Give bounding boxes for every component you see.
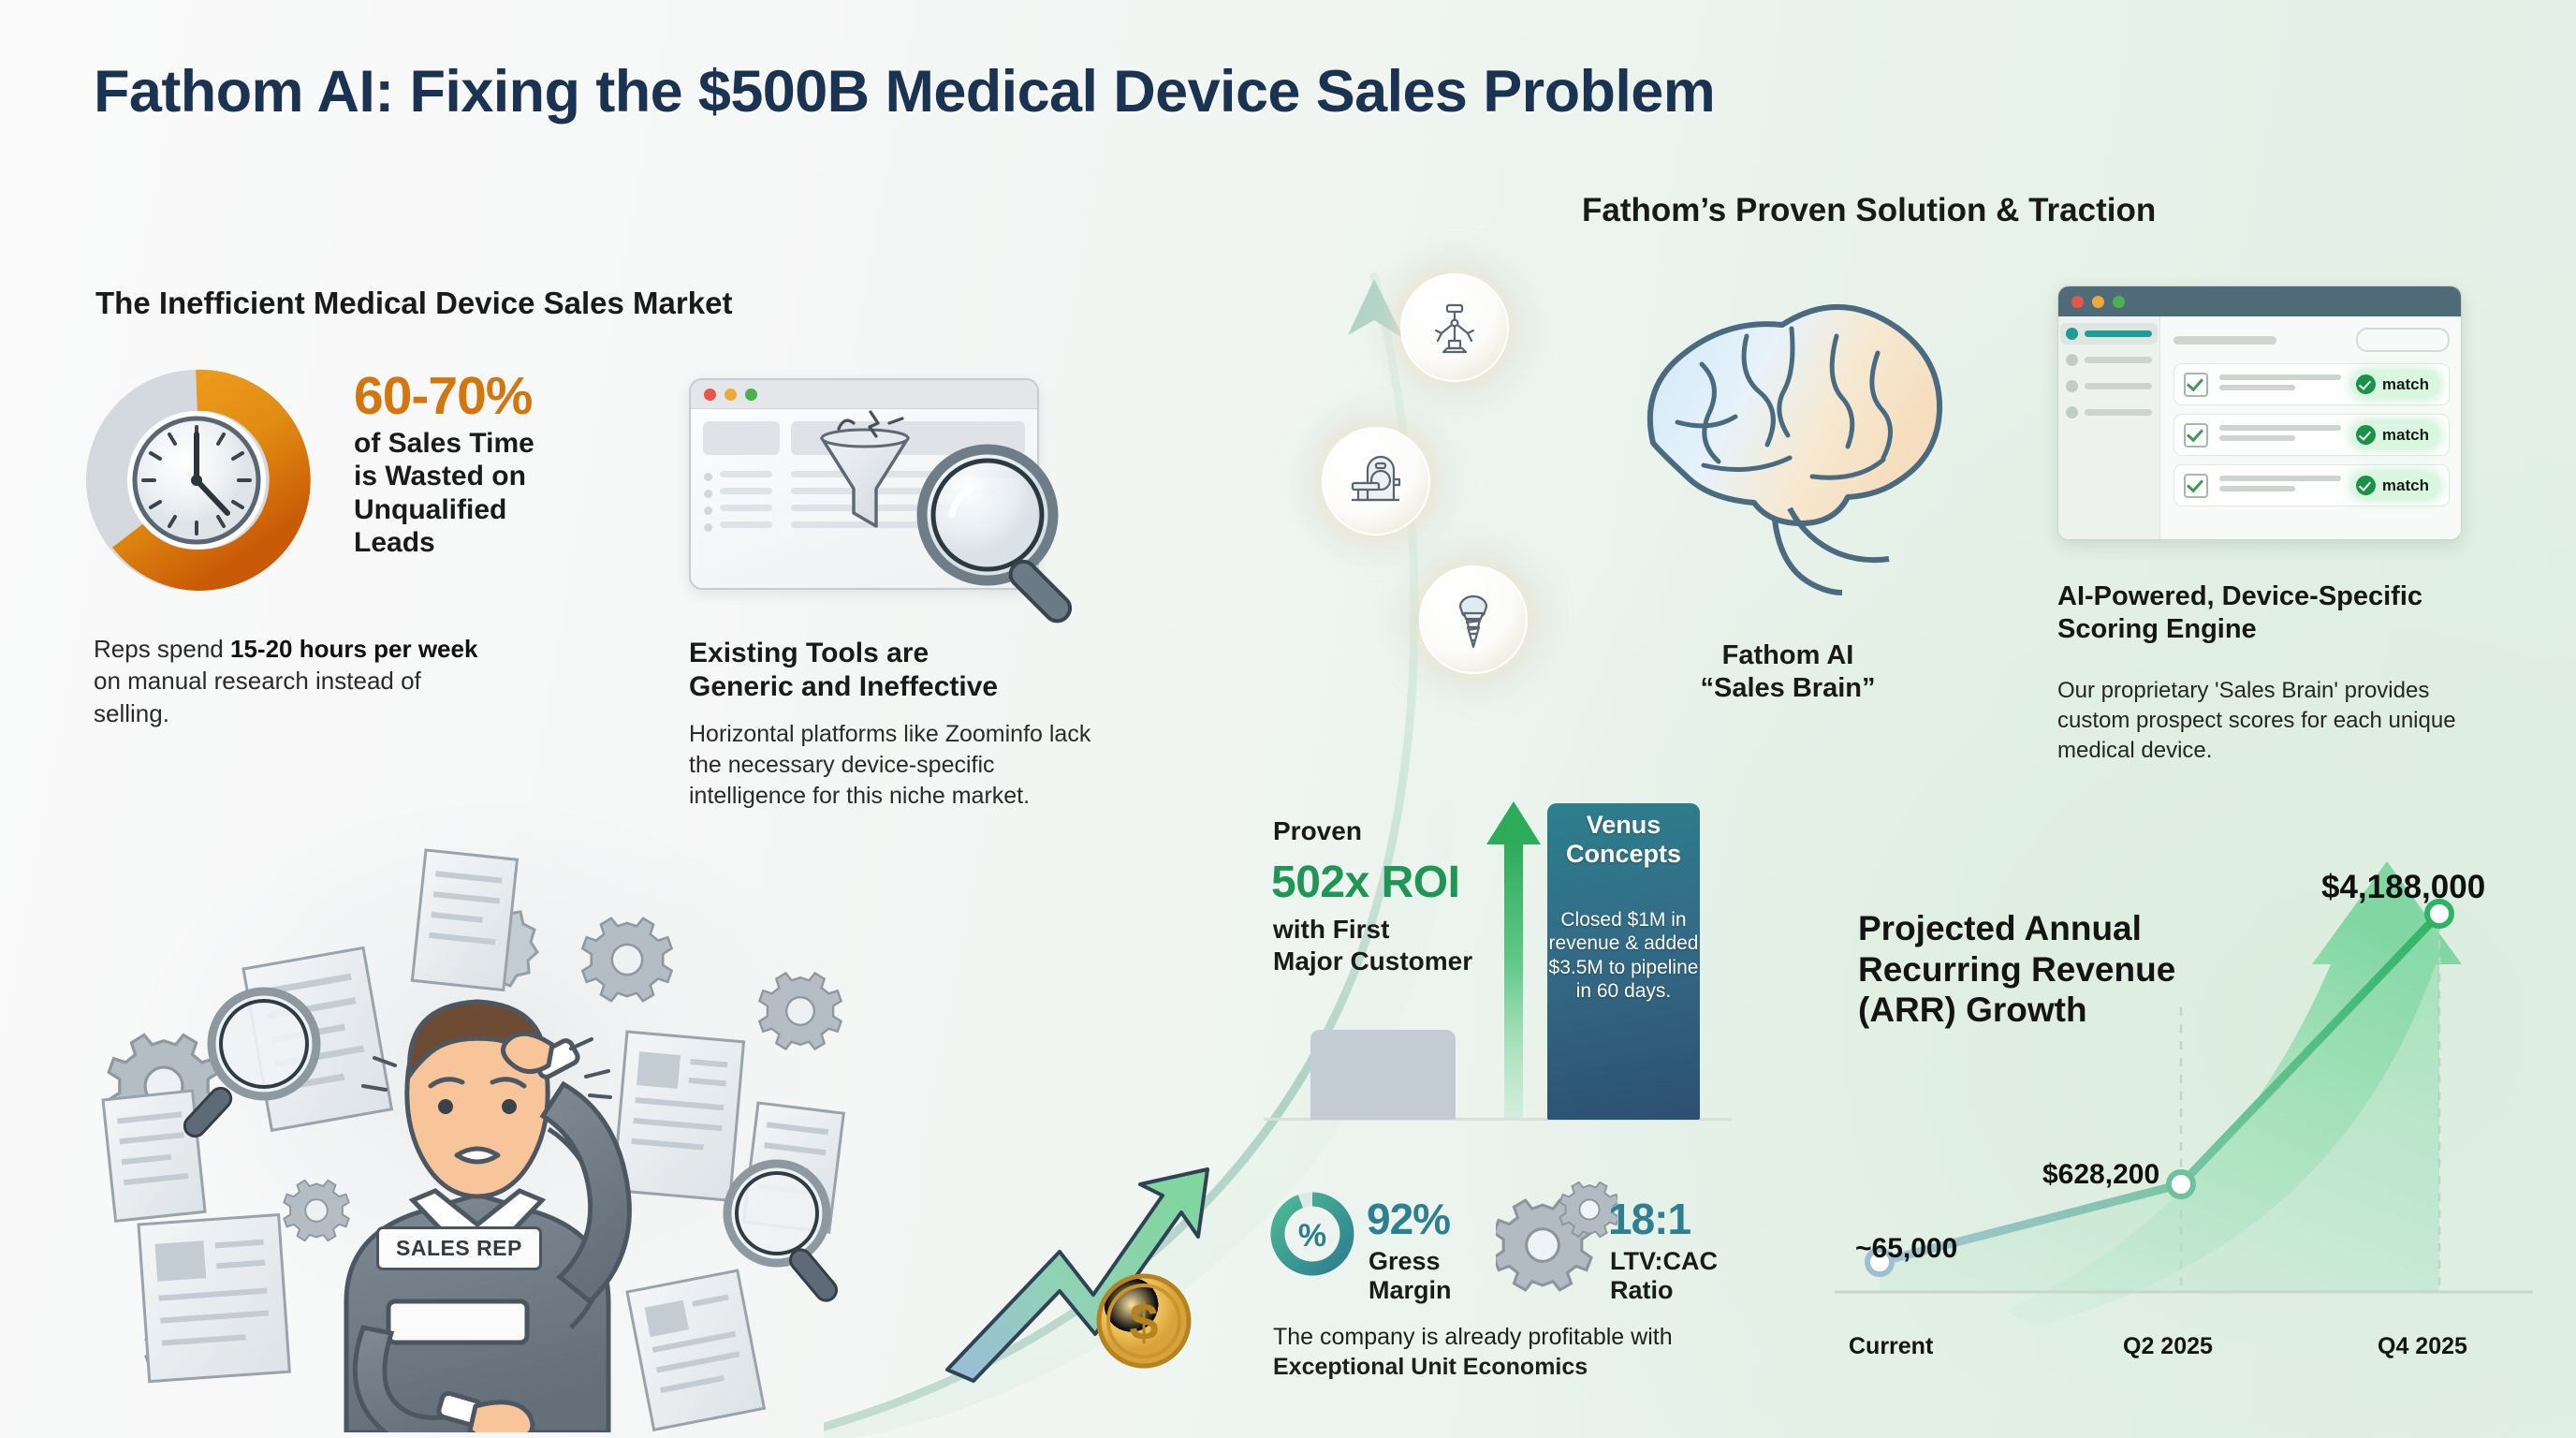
content-line bbox=[720, 521, 772, 528]
sidebar-label-placeholder bbox=[2085, 409, 2152, 416]
growth-arrow-coin-graphic: $ bbox=[927, 1147, 1226, 1386]
venus-concepts-detail: Closed $1M in revenue & added $3.5M to p… bbox=[1547, 908, 1700, 1004]
unit-economics-note: The company is already profitable with E… bbox=[1273, 1322, 1713, 1382]
page-title: Fathom AI: Fixing the $500B Medical Devi… bbox=[94, 58, 1715, 125]
sidebar-dot-icon bbox=[2066, 380, 2078, 392]
existing-tools-heading-line2: Generic and Ineffective bbox=[689, 671, 998, 702]
infographic-canvas: Fathom AI: Fixing the $500B Medical Devi… bbox=[0, 0, 2576, 1438]
arr-chart-title: Projected Annual Recurring Revenue (ARR)… bbox=[1858, 908, 2298, 1031]
status-badge: match bbox=[2352, 422, 2439, 448]
arr-title-line1: Projected Annual bbox=[1858, 909, 2142, 947]
existing-tools-heading: Existing Tools are Generic and Ineffecti… bbox=[689, 637, 1091, 704]
reps-hours-note: Reps spend 15-20 hours per week on manua… bbox=[94, 633, 487, 729]
search-input[interactable] bbox=[2356, 328, 2450, 352]
roi-with-line2: Major Customer bbox=[1273, 946, 1472, 976]
content-line bbox=[720, 488, 772, 494]
roi-bar-before bbox=[1310, 1030, 1456, 1120]
mri-scanner-icon bbox=[1322, 427, 1430, 536]
checkbox-icon[interactable] bbox=[2184, 474, 2208, 498]
arr-x-tick-q4: Q4 2025 bbox=[2378, 1333, 2467, 1360]
check-circle-icon bbox=[2356, 476, 2376, 495]
existing-tools-heading-line1: Existing Tools are bbox=[689, 638, 929, 668]
scoring-heading-line1: AI-Powered, Device-Specific bbox=[2057, 581, 2422, 611]
frustrated-sales-rep-illustration bbox=[66, 777, 908, 1432]
wasted-time-label-line2: is Wasted on bbox=[354, 461, 526, 492]
scoring-main-area: match match match bbox=[2160, 316, 2461, 539]
gross-margin-donut-icon: % bbox=[1266, 1187, 1359, 1281]
content-line bbox=[720, 471, 772, 477]
ltv-cac-label: LTV:CAC Ratio bbox=[1610, 1247, 1774, 1306]
wasted-time-label: of Sales Time is Wasted on Unqualified L… bbox=[354, 427, 588, 560]
arr-title-line3: (ARR) Growth bbox=[1858, 990, 2087, 1029]
content-block bbox=[703, 421, 780, 455]
wasted-time-label-line3: Unqualified bbox=[354, 494, 506, 525]
bullet-dot-icon bbox=[704, 473, 712, 481]
wasted-time-value: 60-70% bbox=[354, 365, 532, 427]
sidebar-label-placeholder bbox=[2085, 357, 2152, 363]
svg-text:%: % bbox=[1298, 1218, 1326, 1254]
check-circle-icon bbox=[2356, 425, 2376, 445]
scoring-engine-window: match match match bbox=[2057, 286, 2462, 540]
sales-brain-caption-line2: “Sales Brain” bbox=[1701, 673, 1876, 703]
sidebar-item-active[interactable] bbox=[2060, 323, 2158, 345]
sales-rep-badge: SALES REP bbox=[376, 1226, 542, 1270]
scoring-window-titlebar bbox=[2058, 286, 2461, 316]
roi-with-line1: with First bbox=[1273, 915, 1389, 944]
scoring-sidebar bbox=[2058, 316, 2160, 539]
bullet-dot-icon bbox=[704, 506, 712, 515]
right-section-title: Fathom’s Proven Solution & Traction bbox=[1582, 192, 2156, 229]
prospect-row[interactable]: match bbox=[2173, 464, 2450, 506]
prospect-text-placeholder bbox=[2219, 374, 2341, 395]
sales-brain-illustration bbox=[1591, 267, 1966, 623]
sales-brain-caption-line1: Fathom AI bbox=[1722, 640, 1854, 670]
checkbox-icon[interactable] bbox=[2184, 423, 2208, 448]
sidebar-label-placeholder bbox=[2085, 383, 2152, 389]
wasted-time-label-line1: of Sales Time bbox=[354, 428, 534, 459]
gear-icon bbox=[1496, 1181, 1617, 1292]
window-close-icon[interactable] bbox=[704, 389, 716, 401]
wasted-time-donut-chart bbox=[70, 363, 323, 597]
scoring-window-body: match match match bbox=[2058, 316, 2461, 539]
status-badge: match bbox=[2352, 372, 2439, 397]
data-point-q2-2025 bbox=[2169, 1172, 2193, 1196]
svg-text:$: $ bbox=[1129, 1292, 1158, 1351]
sidebar-dot-icon bbox=[2066, 406, 2078, 418]
reps-note-bold: 15-20 hours per week bbox=[230, 635, 477, 663]
dental-implant-icon bbox=[1419, 565, 1528, 674]
arr-x-tick-q2: Q2 2025 bbox=[2123, 1333, 2213, 1360]
gross-margin-label-line1: Gress bbox=[1368, 1247, 1441, 1275]
roi-bar-after-venus-concepts: Venus Concepts Closed $1M in revenue & a… bbox=[1547, 803, 1700, 1120]
arr-x-tick-current: Current bbox=[1849, 1333, 1933, 1360]
sidebar-item[interactable] bbox=[2066, 380, 2152, 392]
roi-value: 502x ROI bbox=[1271, 857, 1459, 908]
venus-concepts-name: Venus Concepts bbox=[1547, 811, 1700, 869]
scoring-toolbar bbox=[2173, 328, 2450, 352]
content-line bbox=[720, 505, 772, 511]
roi-growth-arrow-icon bbox=[1481, 800, 1546, 1120]
sidebar-item[interactable] bbox=[2066, 354, 2152, 366]
venus-name-line2: Concepts bbox=[1566, 840, 1681, 868]
left-section-title: The Inefficient Medical Device Sales Mar… bbox=[95, 286, 732, 321]
window-close-icon[interactable] bbox=[2071, 296, 2084, 308]
window-maximize-icon[interactable] bbox=[745, 389, 757, 401]
bullet-dot-icon bbox=[704, 490, 712, 498]
prospect-text-placeholder bbox=[2219, 476, 2341, 496]
funnel-icon bbox=[822, 412, 908, 526]
match-label: match bbox=[2382, 426, 2429, 445]
arr-value-label-q2: $628,200 bbox=[2042, 1159, 2159, 1191]
gross-margin-label-line2: Margin bbox=[1368, 1276, 1452, 1304]
reps-note-pre: Reps spend bbox=[94, 635, 230, 663]
sidebar-item[interactable] bbox=[2066, 406, 2152, 418]
unit-economics-note-bold: Exceptional Unit Economics bbox=[1273, 1354, 1588, 1380]
sales-brain-caption: Fathom AI “Sales Brain” bbox=[1629, 639, 1947, 705]
ltv-cac-label-line1: LTV:CAC bbox=[1610, 1247, 1718, 1275]
ltv-cac-label-line2: Ratio bbox=[1610, 1276, 1674, 1304]
match-label: match bbox=[2382, 477, 2429, 495]
arr-title-line2: Recurring Revenue bbox=[1858, 950, 2175, 989]
roi-proven-label: Proven bbox=[1273, 816, 1362, 846]
check-circle-icon bbox=[2356, 374, 2376, 394]
match-label: match bbox=[2382, 375, 2429, 394]
window-maximize-icon[interactable] bbox=[2113, 296, 2125, 308]
unit-economics-note-pre: The company is already profitable with bbox=[1273, 1324, 1673, 1350]
prospect-row[interactable]: match bbox=[2173, 363, 2450, 405]
arr-value-label-q4: $4,188,000 bbox=[2321, 869, 2485, 906]
reps-note-post: on manual research instead of selling. bbox=[94, 667, 421, 726]
window-minimize-icon[interactable] bbox=[724, 389, 737, 401]
status-badge: match bbox=[2352, 473, 2439, 498]
prospect-text-placeholder bbox=[2219, 425, 2341, 446]
scoring-heading-line2: Scoring Engine bbox=[2057, 614, 2257, 644]
venus-name-line1: Venus bbox=[1587, 811, 1661, 839]
scoring-title-placeholder bbox=[2173, 336, 2276, 345]
gross-margin-value: 92% bbox=[1367, 1194, 1450, 1244]
prospect-row[interactable]: match bbox=[2173, 414, 2450, 456]
sidebar-dot-icon bbox=[2066, 328, 2078, 340]
gross-margin-label: Gress Margin bbox=[1368, 1247, 1490, 1306]
window-minimize-icon[interactable] bbox=[2092, 296, 2104, 308]
arr-value-label-current: ~65,000 bbox=[1855, 1233, 1957, 1265]
surgical-robot-icon bbox=[1400, 273, 1509, 382]
magnifier-icon bbox=[922, 449, 1075, 626]
broken-funnel-magnifier-graphic bbox=[786, 403, 1095, 646]
checkbox-icon[interactable] bbox=[2184, 373, 2208, 397]
bullet-dot-icon bbox=[704, 523, 712, 532]
sidebar-label-placeholder bbox=[2085, 330, 2152, 337]
sidebar-dot-icon bbox=[2066, 354, 2078, 366]
scoring-engine-body: Our proprietary 'Sales Brain' provides c… bbox=[2057, 676, 2497, 766]
ltv-cac-value: 18:1 bbox=[1608, 1194, 1690, 1244]
wasted-time-label-line4: Leads bbox=[354, 527, 435, 558]
scoring-engine-heading: AI-Powered, Device-Specific Scoring Engi… bbox=[2057, 580, 2507, 646]
